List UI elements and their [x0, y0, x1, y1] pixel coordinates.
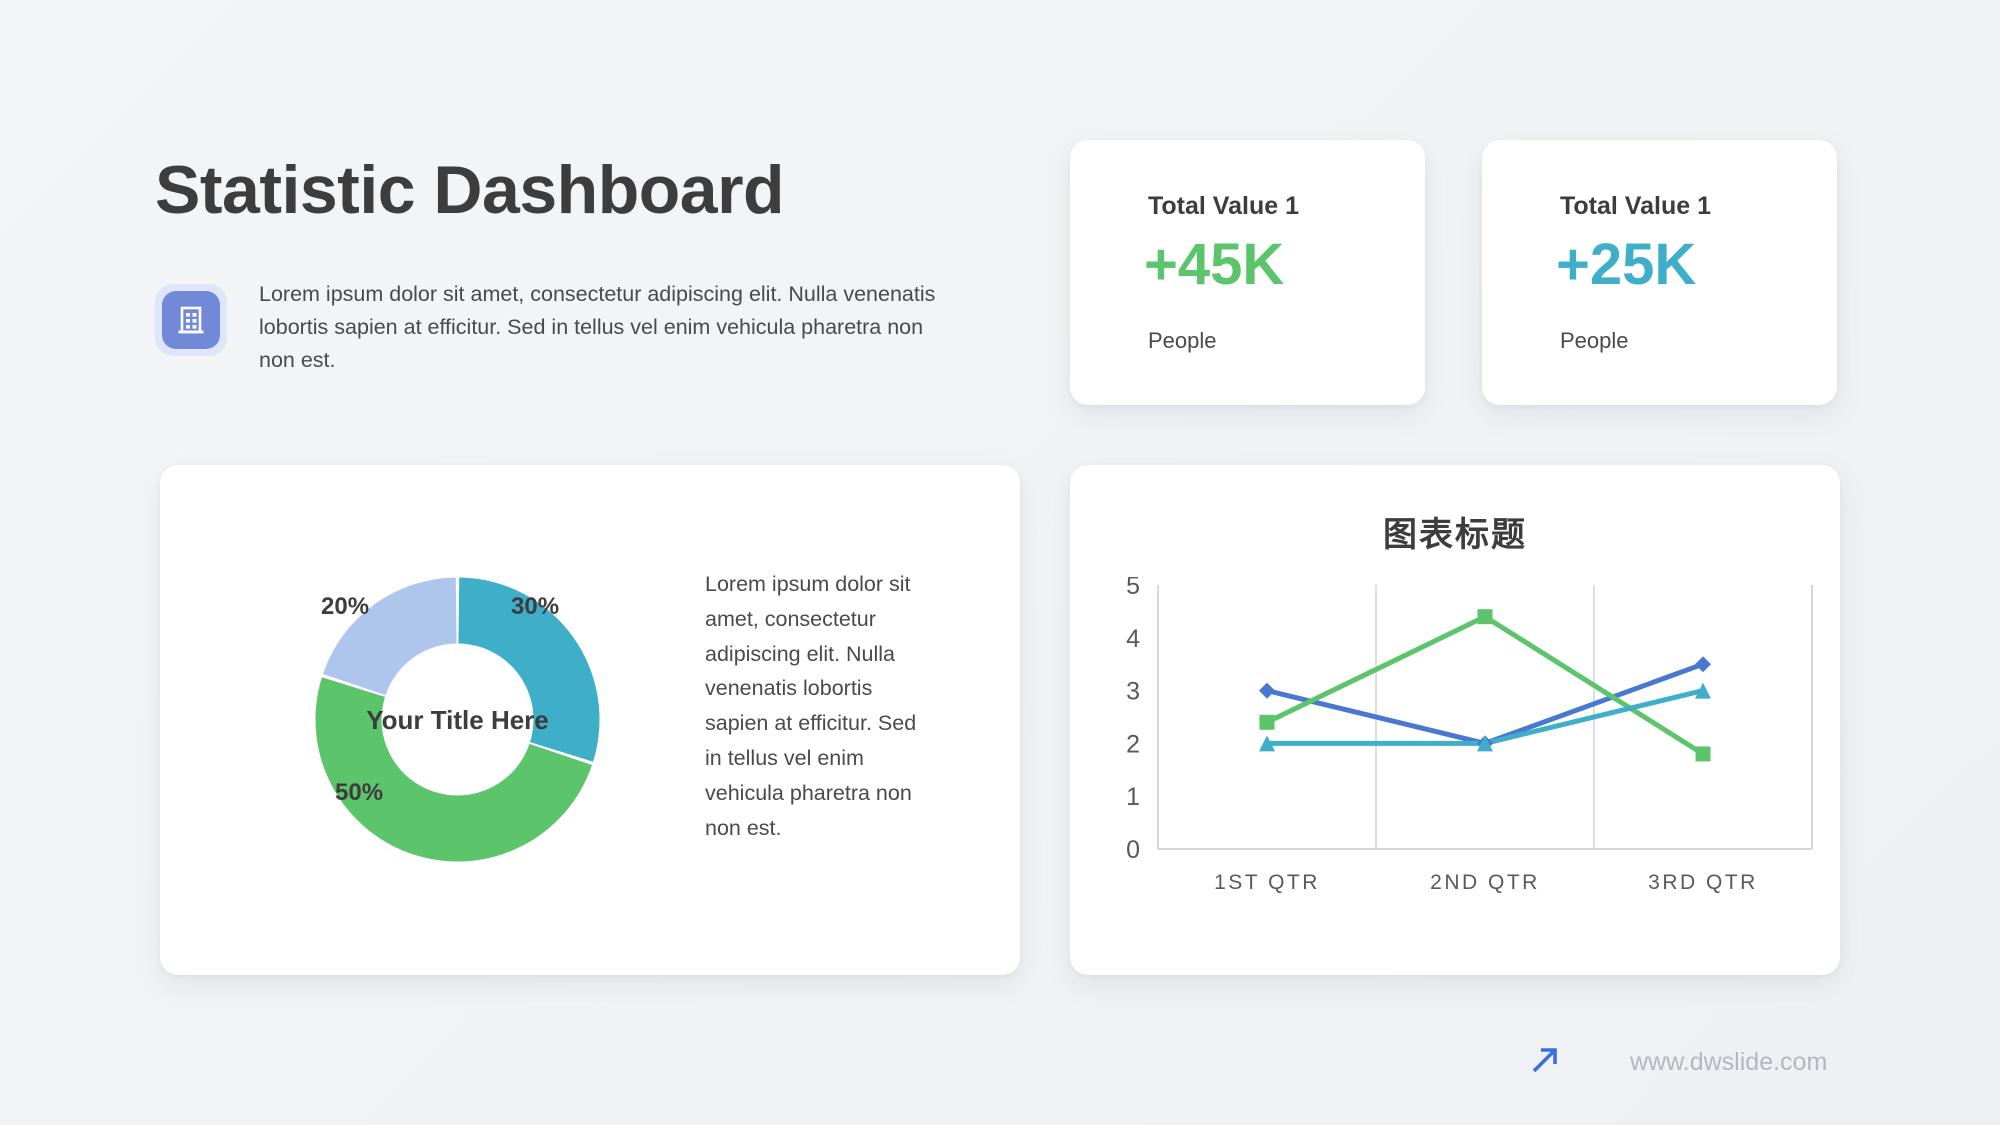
- donut-chart-card: Your Title Here 30% 50% 20% Lorem ipsum …: [160, 465, 1020, 975]
- donut-slice-label-50: 50%: [335, 779, 383, 807]
- intro-row: Lorem ipsum dolor sit amet, consectetur …: [155, 278, 985, 376]
- y-axis-tick-label: 1: [1126, 783, 1140, 811]
- stat-card-value: +25K: [1556, 236, 1696, 294]
- x-axis-tick-label: 3RD QTR: [1648, 871, 1758, 894]
- data-point-marker[interactable]: [1259, 683, 1275, 699]
- stat-card-total-value-2[interactable]: Total Value 1 +25K People: [1482, 140, 1837, 405]
- stat-card-unit: People: [1148, 328, 1217, 354]
- y-axis-tick-label: 0: [1126, 836, 1140, 864]
- data-point-marker[interactable]: [1478, 609, 1493, 624]
- stat-card-label: Total Value 1: [1148, 192, 1299, 221]
- footer-url[interactable]: www.dwslide.com: [1630, 1048, 1827, 1077]
- data-point-marker[interactable]: [1696, 746, 1711, 761]
- building-icon-badge: [155, 284, 227, 356]
- footer: www.dwslide.com: [1528, 1043, 1827, 1082]
- y-axis-tick-label: 2: [1126, 730, 1140, 758]
- stat-card-unit: People: [1560, 328, 1629, 354]
- line-series: [1267, 664, 1703, 743]
- stat-card-total-value-1[interactable]: Total Value 1 +45K People: [1070, 140, 1425, 405]
- slide-canvas: Statistic Dashboard Lorem ipsu: [0, 0, 2000, 1125]
- y-axis-tick-label: 4: [1126, 625, 1140, 653]
- line-chart-title: 图表标题: [1070, 507, 1840, 556]
- x-axis-tick-label: 2ND QTR: [1430, 871, 1540, 894]
- donut-slice-label-20: 20%: [321, 593, 369, 621]
- line-chart-card: 图表标题 0123451ST QTR2ND QTR3RD QTR: [1070, 465, 1840, 975]
- arrow-up-right-icon: [1528, 1043, 1562, 1082]
- stat-card-label: Total Value 1: [1560, 192, 1711, 221]
- title-block: Statistic Dashboard Lorem ipsu: [155, 155, 985, 376]
- donut-chart: Your Title Here 30% 50% 20%: [275, 537, 640, 902]
- data-point-marker[interactable]: [1695, 656, 1711, 672]
- y-axis-tick-label: 5: [1126, 577, 1140, 600]
- data-point-marker[interactable]: [1260, 715, 1275, 730]
- donut-slice-label-30: 30%: [511, 593, 559, 621]
- stat-card-value: +45K: [1144, 236, 1284, 294]
- donut-description: Lorem ipsum dolor sit amet, consectetur …: [705, 567, 935, 846]
- page-title: Statistic Dashboard: [155, 155, 985, 226]
- intro-paragraph: Lorem ipsum dolor sit amet, consectetur …: [259, 278, 949, 376]
- y-axis-tick-label: 3: [1126, 678, 1140, 706]
- x-axis-tick-label: 1ST QTR: [1214, 871, 1320, 894]
- building-icon: [162, 291, 220, 349]
